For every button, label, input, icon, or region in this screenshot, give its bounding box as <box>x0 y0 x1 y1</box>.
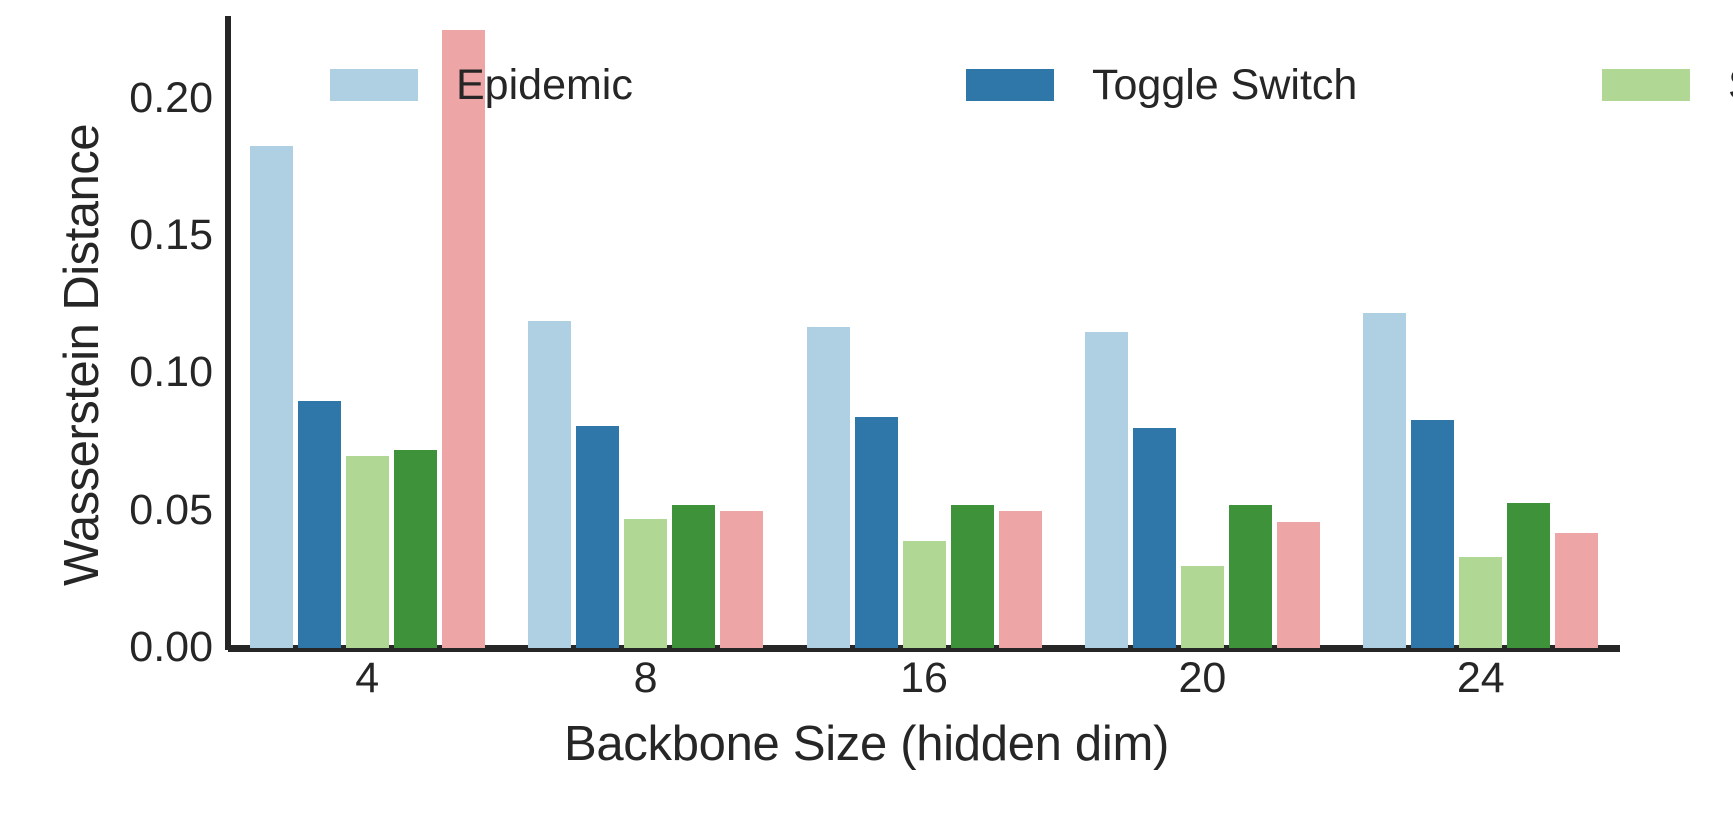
bar[interactable] <box>999 511 1042 648</box>
legend-swatch-icon <box>1602 69 1690 101</box>
bar[interactable] <box>528 321 571 648</box>
bar[interactable] <box>442 30 485 648</box>
bar[interactable] <box>903 541 946 648</box>
legend-label: Toggle Switch <box>1092 64 1357 107</box>
y-tick-label: 0.05 <box>129 489 213 532</box>
legend-swatch-icon <box>330 69 418 101</box>
x-tick-label: 16 <box>900 657 948 700</box>
bar[interactable] <box>1181 566 1224 648</box>
x-axis-title: Backbone Size (hidden dim) <box>0 716 1733 772</box>
x-tick-label: 8 <box>634 657 658 700</box>
bar[interactable] <box>807 327 850 648</box>
x-tick-label: 4 <box>355 657 379 700</box>
bar[interactable] <box>1411 420 1454 648</box>
x-tick-label: 20 <box>1178 657 1226 700</box>
bar[interactable] <box>346 456 389 648</box>
chart-legend: EpidemicToggle SwitchSignalling Cascade1… <box>330 52 1590 118</box>
x-tick-label: 24 <box>1457 657 1505 700</box>
bar[interactable] <box>250 146 293 648</box>
bar[interactable] <box>1363 313 1406 648</box>
y-tick-label: 0.15 <box>129 214 213 257</box>
chart-figure: Wasserstein Distance 0.000.050.100.150.2… <box>0 0 1733 834</box>
legend-item[interactable]: Signalling Cascade1 <box>1602 52 1733 118</box>
bar[interactable] <box>1555 533 1598 648</box>
y-tick-label: 0.10 <box>129 351 213 394</box>
bar[interactable] <box>624 519 667 648</box>
bar[interactable] <box>1459 557 1502 648</box>
bar[interactable] <box>1229 505 1272 648</box>
bar[interactable] <box>672 505 715 648</box>
legend-label: Signalling Cascade1 <box>1728 64 1733 107</box>
bar[interactable] <box>576 426 619 648</box>
bar[interactable] <box>855 417 898 648</box>
bar[interactable] <box>1507 503 1550 648</box>
bar[interactable] <box>1277 522 1320 648</box>
y-axis-title: Wasserstein Distance <box>54 25 110 685</box>
bar[interactable] <box>720 511 763 648</box>
y-tick-label: 0.20 <box>129 77 213 120</box>
bar[interactable] <box>394 450 437 648</box>
bar[interactable] <box>298 401 341 648</box>
bar[interactable] <box>1085 332 1128 648</box>
legend-item[interactable]: Toggle Switch <box>966 52 1566 118</box>
bar[interactable] <box>951 505 994 648</box>
legend-item[interactable]: Epidemic <box>330 52 930 118</box>
legend-swatch-icon <box>966 69 1054 101</box>
bar[interactable] <box>1133 428 1176 648</box>
y-tick-label: 0.00 <box>129 626 213 669</box>
legend-label: Epidemic <box>456 64 633 107</box>
